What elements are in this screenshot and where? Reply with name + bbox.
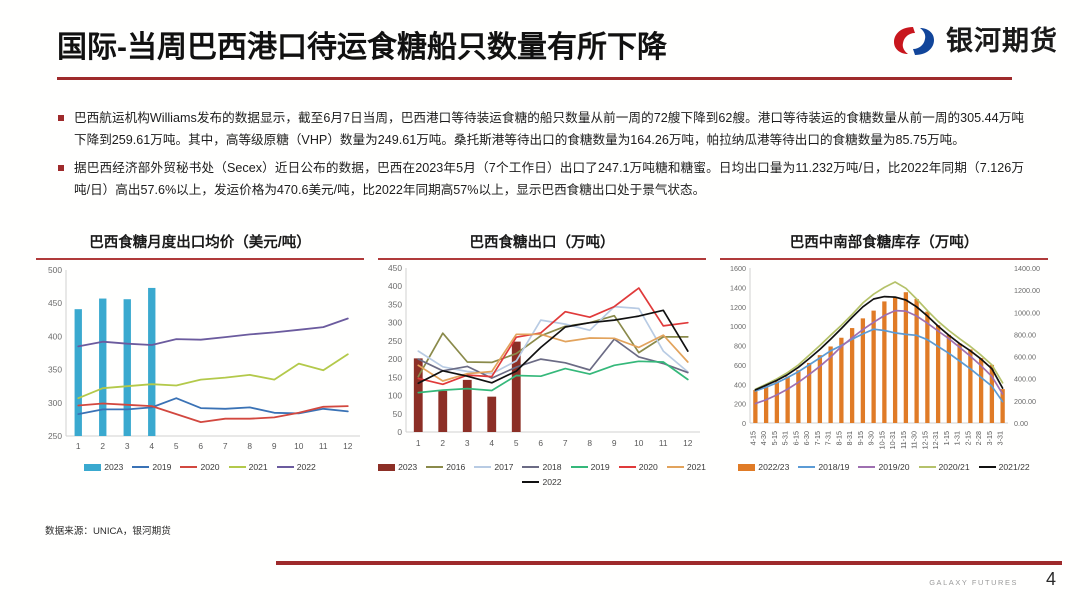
svg-text:300: 300 [388, 318, 402, 328]
svg-text:7: 7 [563, 438, 568, 448]
legend-label: 2019 [152, 462, 171, 472]
svg-text:2-28: 2-28 [974, 431, 983, 445]
legend-label: 2016 [446, 462, 465, 472]
chart-title: 巴西食糖月度出口均价（美元/吨） [30, 232, 370, 254]
legend-item: 2023 [84, 462, 123, 472]
legend-item: 2018 [522, 462, 561, 472]
chart-title: 巴西食糖出口（万吨） [372, 232, 712, 254]
svg-text:1: 1 [416, 438, 421, 448]
svg-text:1600: 1600 [730, 264, 746, 273]
svg-text:350: 350 [388, 299, 402, 309]
svg-text:450: 450 [388, 263, 402, 273]
chart-title: 巴西中南部食糖库存（万吨） [714, 232, 1054, 254]
svg-text:6-15: 6-15 [791, 431, 800, 445]
svg-text:9-15: 9-15 [856, 431, 865, 445]
svg-text:400: 400 [48, 331, 62, 341]
slide: 国际-当周巴西港口待运食糖船只数量有所下降 银河期货 巴西航运机构William… [0, 0, 1080, 608]
svg-text:200: 200 [388, 354, 402, 364]
list-item: 据巴西经济部外贸秘书处（Secex）近日公布的数据，巴西在2023年5月（7个工… [58, 158, 1024, 201]
svg-text:11-15: 11-15 [899, 431, 908, 449]
bullet-list: 巴西航运机构Williams发布的数据显示，截至6月7日当周，巴西港口等待装运食… [58, 108, 1024, 209]
legend-item: 2021 [229, 462, 268, 472]
legend-swatch [229, 466, 246, 468]
svg-text:1200: 1200 [730, 303, 746, 312]
legend-swatch [180, 466, 197, 468]
svg-text:2: 2 [440, 438, 445, 448]
svg-text:7-15: 7-15 [813, 431, 822, 445]
legend-item: 2020 [619, 462, 658, 472]
svg-text:2-15: 2-15 [963, 431, 972, 445]
svg-text:6: 6 [538, 438, 543, 448]
legend-swatch [426, 466, 443, 468]
legend-swatch [619, 466, 636, 468]
legend-label: 2022 [542, 477, 561, 487]
svg-text:5: 5 [514, 438, 519, 448]
svg-text:300: 300 [48, 398, 62, 408]
svg-text:200.00: 200.00 [1014, 397, 1036, 406]
legend-item: 2022 [522, 477, 561, 487]
chart-card-export-volume: 巴西食糖出口（万吨） 05010015020025030035040045012… [372, 232, 712, 494]
svg-text:1000: 1000 [730, 322, 746, 331]
svg-text:8-15: 8-15 [834, 431, 843, 445]
legend-swatch [474, 466, 491, 468]
svg-text:9: 9 [272, 441, 277, 451]
svg-text:4-30: 4-30 [759, 431, 768, 445]
legend-item: 2021 [667, 462, 706, 472]
chart-plot-area: 250300350400450500123456789101112 [30, 260, 370, 460]
svg-text:8: 8 [587, 438, 592, 448]
chart-legend: 20232019202020212022 [30, 462, 370, 472]
chart-card-export-price: 巴西食糖月度出口均价（美元/吨） 25030035040045050012345… [30, 232, 370, 494]
svg-text:12: 12 [343, 441, 353, 451]
svg-text:10: 10 [294, 441, 304, 451]
legend-label: 2021 [687, 462, 706, 472]
svg-text:1: 1 [76, 441, 81, 451]
source-note: 数据来源：UNICA，银河期货 [45, 523, 171, 537]
legend-swatch [84, 464, 101, 471]
brand-logo: 银河期货 [891, 24, 1058, 58]
legend-item: 2017 [474, 462, 513, 472]
legend-item: 2022 [277, 462, 316, 472]
legend-item: 2023 [378, 462, 417, 472]
legend-swatch [667, 466, 684, 468]
svg-text:450: 450 [48, 298, 62, 308]
legend-label: 2023 [398, 462, 417, 472]
svg-text:600: 600 [734, 361, 746, 370]
chart-legend: 20232016201720182019202020212022 [372, 462, 712, 487]
header-divider [57, 77, 1012, 80]
legend-label: 2018 [542, 462, 561, 472]
legend-label: 2021 [249, 462, 268, 472]
svg-text:800.00: 800.00 [1014, 330, 1036, 339]
svg-text:1200.00: 1200.00 [1014, 286, 1040, 295]
legend-label: 2017 [494, 462, 513, 472]
svg-text:200: 200 [734, 400, 746, 409]
svg-text:1-31: 1-31 [953, 431, 962, 445]
svg-text:10-15: 10-15 [877, 431, 886, 449]
svg-text:5-31: 5-31 [781, 431, 790, 445]
chart-plot-area: 0501001502002503003504004501234567891011… [372, 260, 712, 460]
chart-plot-area: 020040060080010001200140016000.00200.004… [714, 260, 1054, 460]
svg-text:10-31: 10-31 [888, 431, 897, 449]
bullet-square-icon [58, 165, 64, 171]
legend-item: 2019 [132, 462, 171, 472]
legend-swatch [277, 466, 294, 468]
bullet-square-icon [58, 115, 64, 121]
svg-text:12-31: 12-31 [931, 431, 940, 449]
svg-text:4: 4 [149, 441, 154, 451]
svg-text:250: 250 [48, 431, 62, 441]
list-item: 巴西航运机构Williams发布的数据显示，截至6月7日当周，巴西港口等待装运食… [58, 108, 1024, 151]
svg-text:6: 6 [198, 441, 203, 451]
svg-text:800: 800 [734, 342, 746, 351]
svg-text:9-30: 9-30 [867, 431, 876, 445]
svg-text:3-15: 3-15 [985, 431, 994, 445]
legend-swatch [132, 466, 149, 468]
svg-text:150: 150 [388, 372, 402, 382]
svg-text:3-31: 3-31 [996, 431, 1005, 445]
svg-text:1-15: 1-15 [942, 431, 951, 445]
svg-text:350: 350 [48, 365, 62, 375]
legend-swatch [378, 464, 395, 471]
svg-text:1400.00: 1400.00 [1014, 264, 1040, 273]
brand-name: 银河期货 [946, 28, 1058, 55]
legend-swatch [571, 466, 588, 468]
legend-label: 2020 [639, 462, 658, 472]
svg-text:11: 11 [659, 438, 668, 448]
svg-text:400: 400 [734, 380, 746, 389]
page-number: 4 [1046, 569, 1056, 590]
legend-label: 2022 [297, 462, 316, 472]
svg-text:11-30: 11-30 [910, 431, 919, 449]
svg-text:100: 100 [388, 391, 402, 401]
bullet-text: 巴西航运机构Williams发布的数据显示，截至6月7日当周，巴西港口等待装运食… [74, 108, 1024, 151]
svg-text:10: 10 [634, 438, 644, 448]
footer-brand: GALAXY FUTURES [929, 578, 1018, 587]
page-title: 国际-当周巴西港口待运食糖船只数量有所下降 [57, 22, 667, 66]
svg-text:500: 500 [48, 265, 62, 275]
svg-text:600.00: 600.00 [1014, 353, 1036, 362]
legend-swatch [522, 481, 539, 483]
svg-text:0.00: 0.00 [1014, 419, 1028, 428]
bullet-text: 据巴西经济部外贸秘书处（Secex）近日公布的数据，巴西在2023年5月（7个工… [74, 158, 1024, 201]
svg-text:3: 3 [125, 441, 130, 451]
legend-label: 2019 [591, 462, 610, 472]
legend-label: 2020 [200, 462, 219, 472]
legend-item: 2020 [180, 462, 219, 472]
svg-text:250: 250 [388, 336, 402, 346]
svg-text:11: 11 [319, 441, 328, 451]
footer-divider [276, 561, 1062, 565]
svg-text:6-30: 6-30 [802, 431, 811, 445]
legend-swatch [522, 466, 539, 468]
svg-text:50: 50 [393, 409, 403, 419]
legend-item: 2019 [571, 462, 610, 472]
svg-text:1400: 1400 [730, 283, 746, 292]
chart-card-inventory: 巴西中南部食糖库存（万吨） 02004006008001000120014001… [714, 232, 1054, 494]
svg-text:400: 400 [388, 281, 402, 291]
svg-text:0: 0 [742, 419, 746, 428]
svg-text:3: 3 [465, 438, 470, 448]
legend-label: 2023 [104, 462, 123, 472]
svg-text:12: 12 [683, 438, 693, 448]
svg-text:0: 0 [397, 427, 402, 437]
svg-text:4: 4 [489, 438, 494, 448]
svg-text:8: 8 [247, 441, 252, 451]
svg-text:4-15: 4-15 [748, 431, 757, 445]
svg-text:9: 9 [612, 438, 617, 448]
svg-text:7: 7 [223, 441, 228, 451]
svg-text:7-31: 7-31 [824, 431, 833, 445]
svg-text:1000.00: 1000.00 [1014, 308, 1040, 317]
svg-text:2: 2 [100, 441, 105, 451]
legend-item: 2016 [426, 462, 465, 472]
svg-text:5-15: 5-15 [770, 431, 779, 445]
galaxy-swirl-icon [891, 24, 937, 58]
svg-text:5: 5 [174, 441, 179, 451]
svg-text:8-31: 8-31 [845, 431, 854, 445]
svg-text:400.00: 400.00 [1014, 375, 1036, 384]
svg-text:12-15: 12-15 [920, 431, 929, 449]
